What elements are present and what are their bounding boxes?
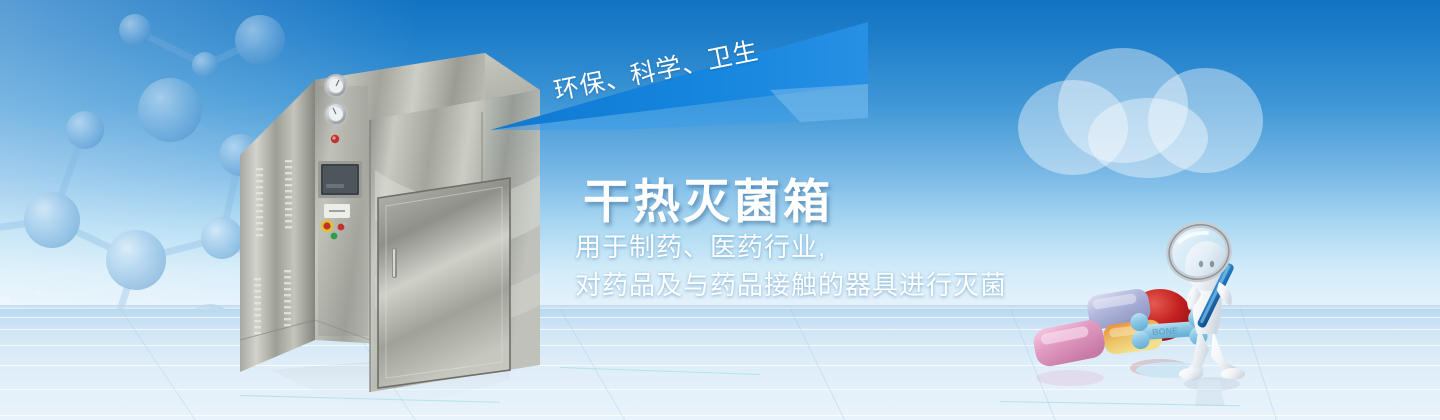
subtitle-line-2: 对药品及与药品接触的器具进行灭菌	[575, 266, 1007, 304]
subtitle-line-1: 用于制药、医药行业,	[575, 228, 1007, 266]
page-title: 干热灭菌箱	[583, 163, 833, 232]
cloud-graphic	[1000, 18, 1290, 183]
red-indicator-light	[331, 135, 339, 143]
name-plate-label	[324, 204, 350, 218]
emergency-stop-button	[321, 220, 333, 232]
temperature-gauge	[324, 102, 348, 126]
cloud-puff	[1088, 98, 1208, 178]
subtitle-block: 用于制药、医药行业, 对药品及与药品接触的器具进行灭菌	[575, 228, 1007, 304]
floor-accent-line	[560, 367, 760, 375]
promo-banner: 环保、科学、卫生 干热灭菌箱 用于制药、医药行业, 对药品及与药品接触的器具进行…	[0, 0, 1440, 420]
pressure-gauge	[324, 74, 348, 98]
tagline-ribbon: 环保、科学、卫生	[470, 22, 890, 157]
start-button	[331, 233, 338, 240]
touchscreen-control-panel	[318, 161, 362, 198]
inspector-mascot-with-magnifier	[1155, 222, 1285, 412]
soap-bar-pink	[1031, 318, 1107, 369]
